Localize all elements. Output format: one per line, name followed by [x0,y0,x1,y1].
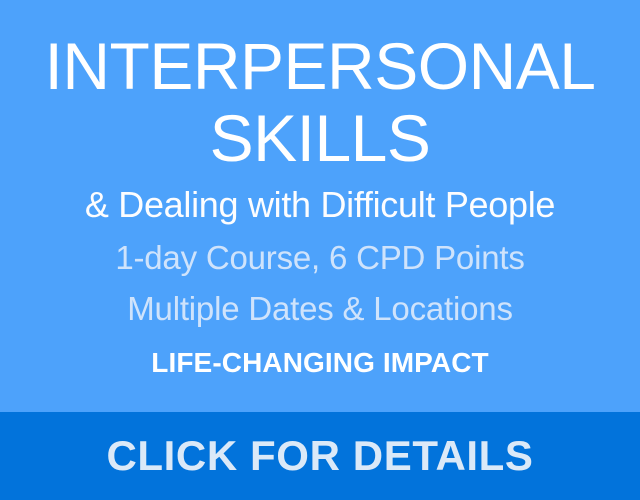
advertisement-banner[interactable]: INTERPERSONAL SKILLS & Dealing with Diff… [0,0,640,500]
headline-line-2: SKILLS [14,100,626,176]
headline-line-1: INTERPERSONAL [14,28,626,104]
dates-locations: Multiple Dates & Locations [14,287,626,331]
impact-tagline: LIFE-CHANGING IMPACT [14,345,626,381]
subheadline: & Dealing with Difficult People [14,182,626,228]
cta-button-label: CLICK FOR DETAILS [106,432,533,480]
course-duration-credits: 1-day Course, 6 CPD Points [14,236,626,280]
ad-content-area: INTERPERSONAL SKILLS & Dealing with Diff… [0,0,640,412]
click-for-details-button[interactable]: CLICK FOR DETAILS [0,412,640,500]
